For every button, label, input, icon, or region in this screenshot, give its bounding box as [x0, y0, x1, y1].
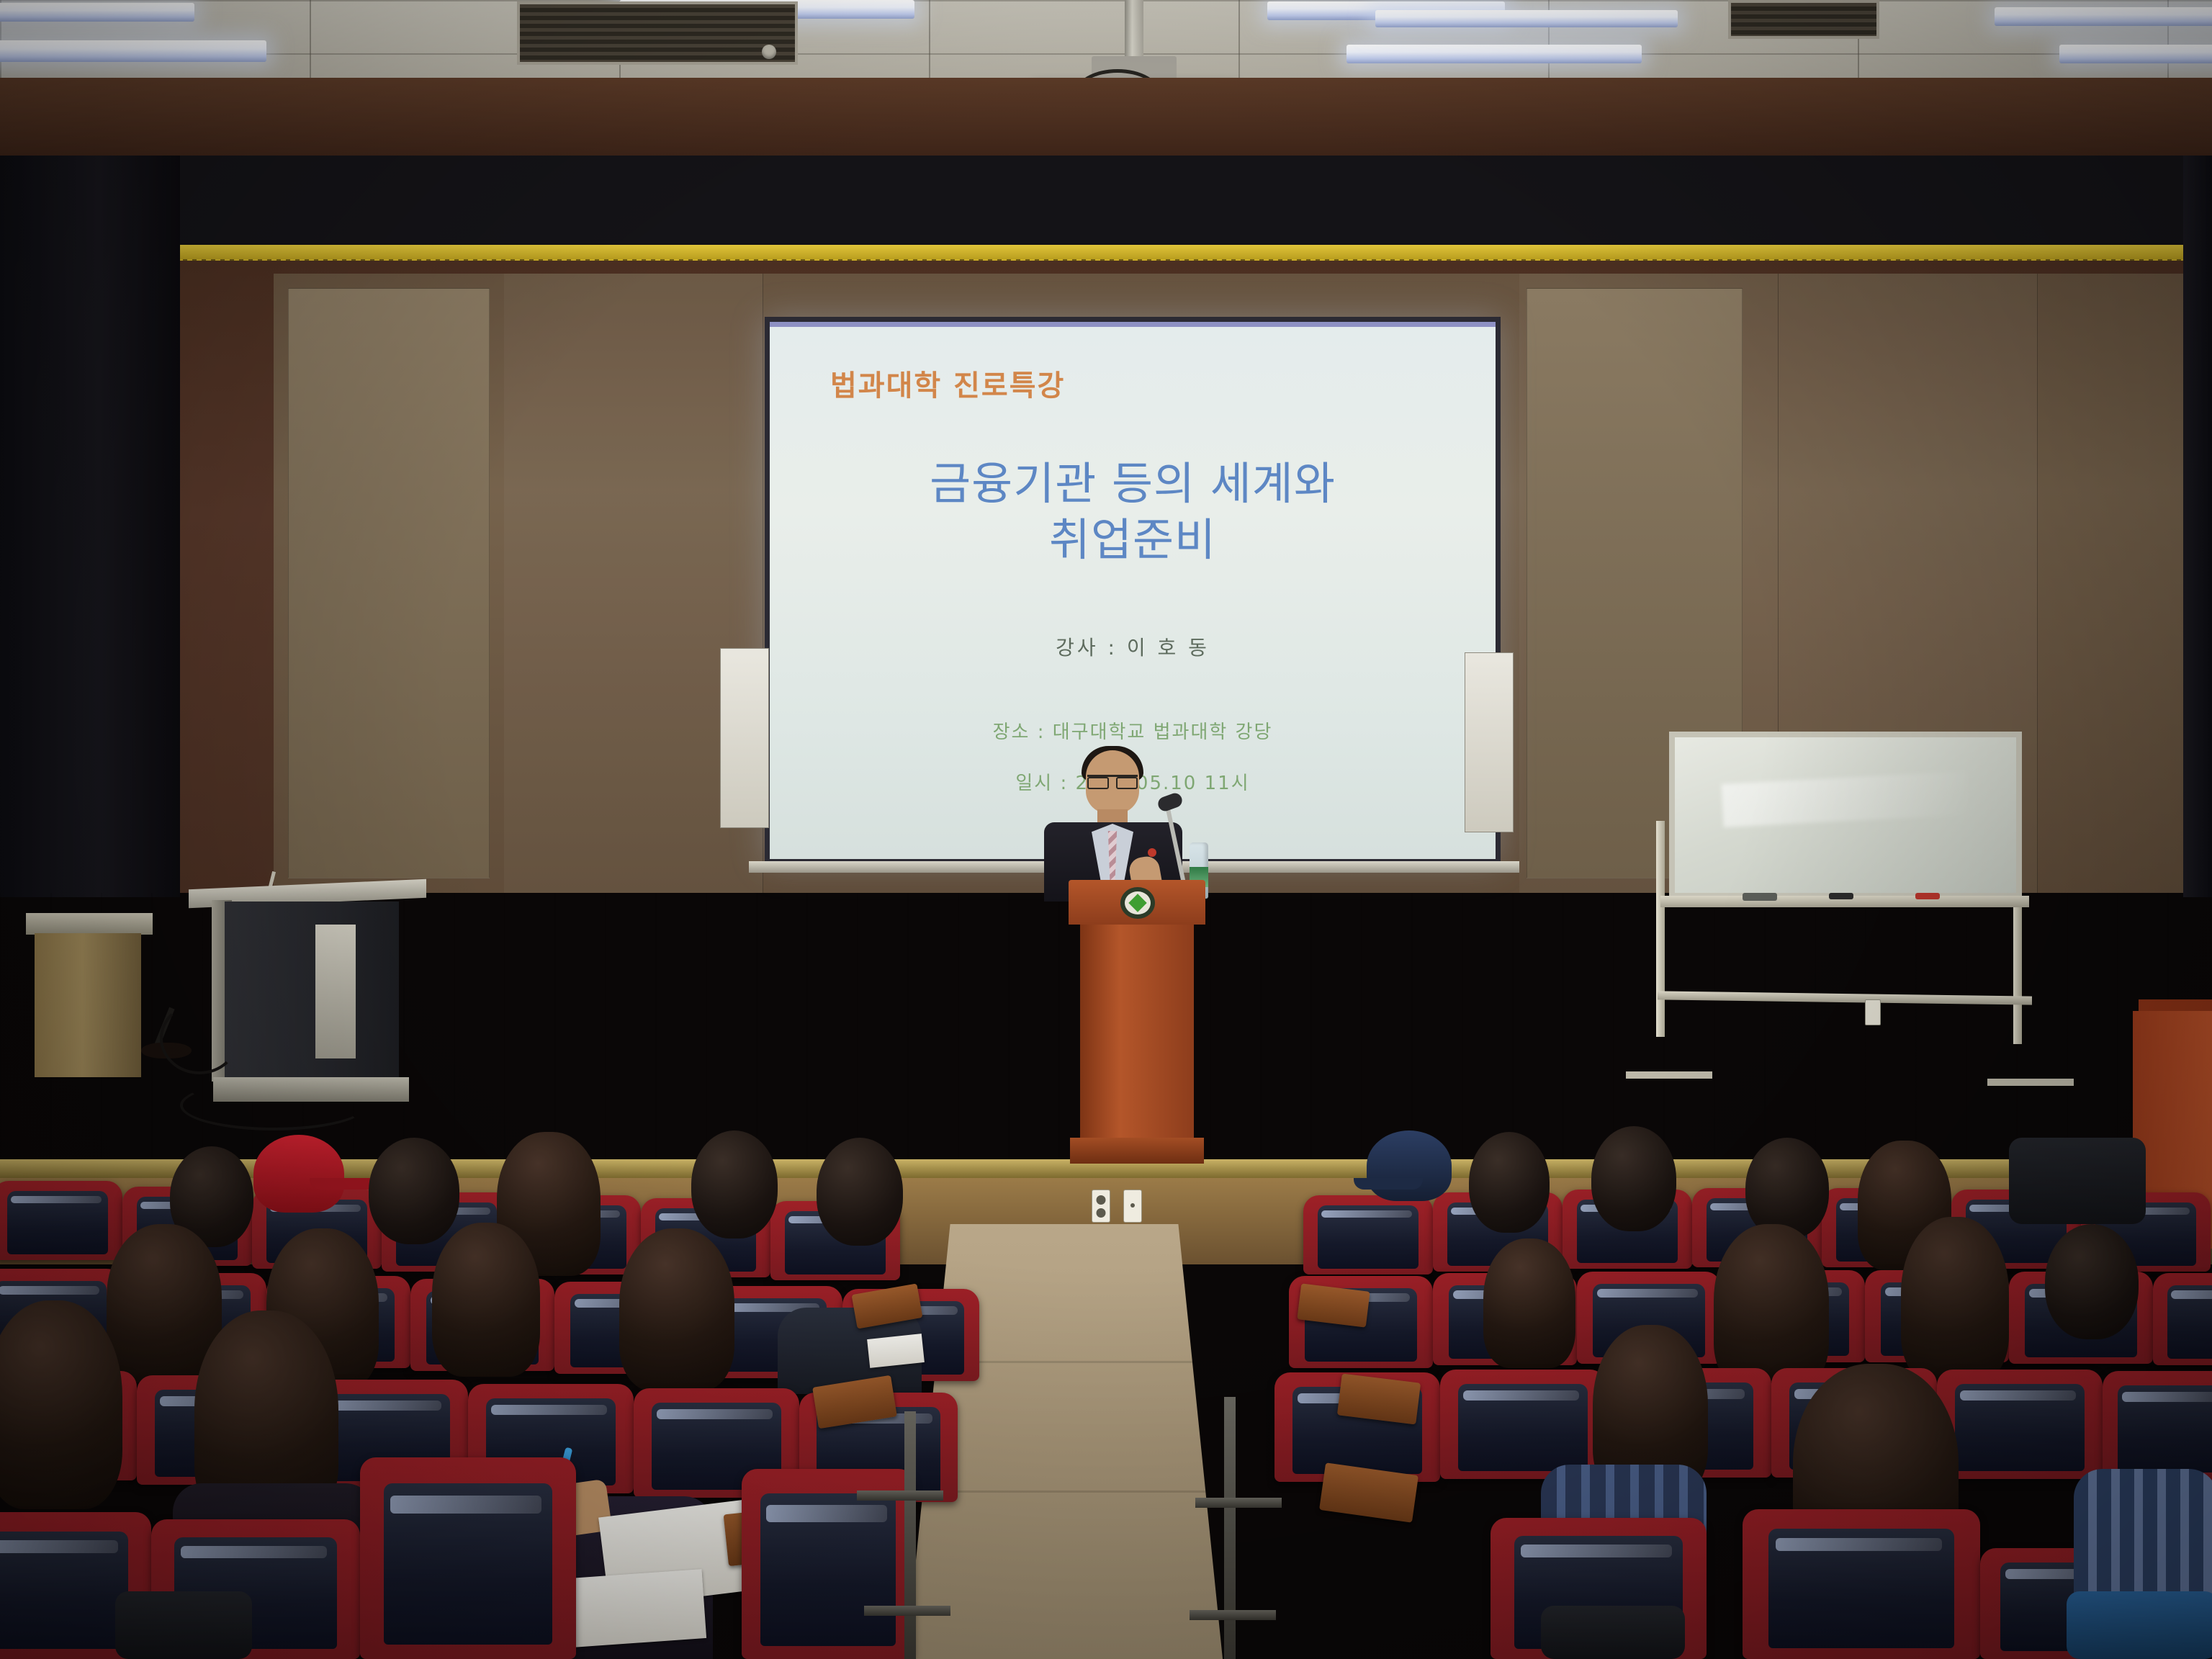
- red-cap: [253, 1135, 344, 1213]
- notes-paper: [867, 1334, 925, 1368]
- audience-head: [1591, 1126, 1676, 1231]
- seat-highlight: [0, 1286, 99, 1295]
- navy-cap: [1367, 1130, 1452, 1201]
- seat[interactable]: [2103, 1371, 2212, 1480]
- wall-outlet: [1865, 999, 1881, 1025]
- university-emblem: [1120, 887, 1155, 919]
- blue-jacket: [2067, 1591, 2212, 1659]
- outlet-socket: [1097, 1195, 1106, 1205]
- audience-head: [817, 1138, 903, 1246]
- seat-highlight: [1521, 1545, 1672, 1557]
- seat[interactable]: [360, 1457, 576, 1659]
- seat-highlight: [1597, 1289, 1698, 1298]
- red-marker[interactable]: [1915, 893, 1940, 899]
- eyeglasses-icon: [1087, 775, 1138, 784]
- floor-cable: [160, 1002, 239, 1074]
- backpack: [2009, 1138, 2146, 1224]
- handbag: [115, 1591, 252, 1659]
- notes-paper: [558, 1569, 706, 1648]
- seat[interactable]: [2153, 1273, 2212, 1365]
- valance-gold-trim: [0, 245, 2212, 261]
- seat[interactable]: [1937, 1370, 2103, 1479]
- seat-highlight: [2122, 1392, 2212, 1402]
- seat-highlight: [1960, 1390, 2076, 1401]
- wall-speaker-panel-left: [720, 648, 769, 828]
- audience-long-hair: [432, 1223, 540, 1377]
- ceiling-light-tube: [2059, 45, 2212, 63]
- seat-highlight: [0, 1540, 118, 1553]
- seat-highlight: [11, 1196, 102, 1203]
- wood-soffit-beam: [0, 78, 2212, 156]
- seat-highlight: [1321, 1210, 1412, 1218]
- backpack: [1541, 1606, 1685, 1659]
- podium-base: [1070, 1138, 1204, 1164]
- aisle-handrail: [904, 1411, 916, 1659]
- podium-column: [1080, 925, 1194, 1162]
- seat[interactable]: [1440, 1370, 1606, 1479]
- audience-head: [691, 1130, 778, 1238]
- whiteboard-foot-left: [1626, 1071, 1712, 1079]
- slide-eyebrow: 법과대학 진로특강: [830, 362, 1467, 404]
- duplex-outlet: [1092, 1190, 1110, 1223]
- seat-highlight: [766, 1505, 887, 1522]
- audience-head: [2045, 1224, 2139, 1339]
- slide-title-line-1: 금융기관 등의 세계와: [799, 456, 1467, 512]
- wall-accent-panel: [288, 288, 490, 878]
- seat-highlight: [1463, 1390, 1579, 1401]
- whiteboard-eraser[interactable]: [1743, 893, 1777, 901]
- audience-long-hair: [619, 1228, 734, 1391]
- ceiling-light-tube: [1346, 45, 1642, 63]
- whiteboard-leg-left: [1656, 821, 1665, 1037]
- ac-vent: [517, 1, 798, 65]
- audience-head: [369, 1138, 459, 1244]
- whiteboard-foot-right: [1987, 1079, 2074, 1086]
- ac-vent: [1728, 0, 1879, 39]
- ceiling-light-tube: [0, 3, 194, 22]
- slide-speaker: 강사 : 이 호 동: [799, 632, 1467, 661]
- slide-venue: 장소 : 대구대학교 법과대학 강당: [799, 717, 1467, 744]
- auditorium-scene: 법과대학 진로특강 금융기관 등의 세계와 취업준비 강사 : 이 호 동 장소…: [0, 0, 2212, 1659]
- left-stage-curtain: [0, 156, 180, 897]
- seat-highlight: [1776, 1538, 1942, 1552]
- side-table-body: [35, 933, 141, 1077]
- mobile-whiteboard[interactable]: [1669, 732, 2022, 899]
- lectern-accent-strip: [315, 925, 356, 1058]
- ceiling-light-tube: [0, 40, 266, 62]
- stage-valance: [0, 156, 2212, 249]
- seat-highlight: [325, 1401, 441, 1411]
- seat[interactable]: [1743, 1509, 1980, 1659]
- blank-wall-plate: [1123, 1190, 1142, 1223]
- ceiling-light-tube: [1375, 10, 1678, 27]
- seat-highlight: [491, 1405, 607, 1415]
- seat[interactable]: [1303, 1195, 1433, 1274]
- audience-head: [1469, 1132, 1550, 1233]
- aisle-step-trim: [857, 1491, 943, 1501]
- aisle-step-trim: [1190, 1610, 1276, 1620]
- control-lectern: [206, 884, 413, 1100]
- seat-highlight: [390, 1496, 541, 1514]
- audience-long-hair: [1714, 1224, 1829, 1390]
- outlet-socket: [1097, 1208, 1106, 1218]
- lectern-body: [225, 902, 399, 1082]
- seat-highlight: [181, 1546, 327, 1558]
- whiteboard-glare: [1722, 771, 1969, 827]
- aisle-step-trim: [1195, 1498, 1282, 1508]
- slide-title-line-2: 취업준비: [799, 512, 1467, 568]
- audience-long-hair: [1483, 1238, 1575, 1368]
- wall-speaker-panel-right: [1465, 652, 1514, 832]
- seat-highlight: [657, 1409, 773, 1419]
- ceiling-speaker-dot: [762, 45, 776, 59]
- black-marker[interactable]: [1829, 893, 1853, 899]
- floor-cable: [180, 1080, 367, 1130]
- seat[interactable]: [0, 1181, 122, 1260]
- audience-long-hair: [1901, 1217, 2009, 1382]
- aisle-step-trim: [864, 1606, 950, 1616]
- side-table-top: [26, 913, 153, 935]
- cap-brim: [1354, 1178, 1423, 1190]
- ceiling-light-tube: [1995, 7, 2212, 26]
- plate-screw: [1130, 1203, 1135, 1208]
- lapel-pin: [1148, 848, 1156, 857]
- plaid-shirt: [2074, 1469, 2212, 1606]
- audience-head: [1745, 1138, 1829, 1238]
- slide-title: 금융기관 등의 세계와 취업준비: [799, 456, 1467, 567]
- audience-long-hair: [0, 1300, 122, 1509]
- seat-highlight: [2171, 1290, 2212, 1299]
- right-stage-curtain: [2183, 156, 2212, 897]
